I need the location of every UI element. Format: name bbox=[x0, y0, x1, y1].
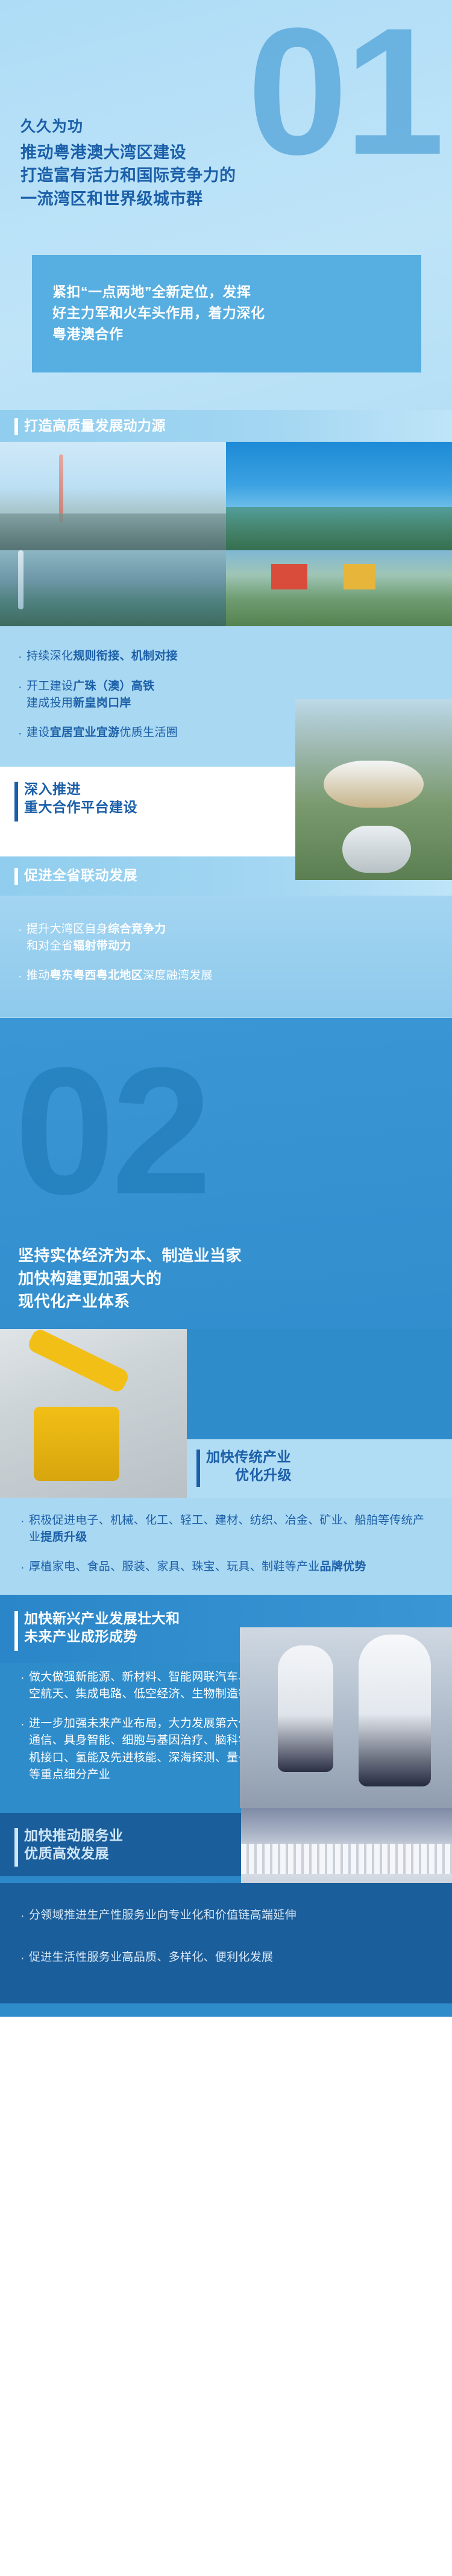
section-02-hero: 坚持实体经济为本、制造业当家 加快构建更加强大的 现代化产业体系 bbox=[0, 1018, 452, 1329]
bullet-text-plain-2: 和对全省 bbox=[27, 940, 73, 952]
heading-tick-icon bbox=[14, 782, 18, 821]
bullet-dot-icon: · bbox=[20, 1559, 29, 1577]
bullet-text-plain: 持续深化 bbox=[27, 650, 73, 662]
bullet-text: 分领域推进生产性服务业向专业化和价值链高端延伸 bbox=[29, 1907, 297, 1925]
heading-tick-icon bbox=[14, 1828, 18, 1867]
bullet-text: 厚植家电、食品、服装、家具、珠宝、玩具、制鞋等产业品牌优势 bbox=[29, 1559, 366, 1577]
heading-tick-icon bbox=[14, 868, 18, 885]
heading-build-growth-engine: 打造高质量发展动力源 bbox=[0, 410, 452, 442]
heading-text: 加快新兴产业发展壮大和 未来产业成形成势 bbox=[24, 1609, 180, 1646]
bullet-dot-icon: · bbox=[20, 1949, 29, 1967]
quote-line: 粤港澳合作 bbox=[52, 324, 401, 345]
bullet-text-emphasis: 品牌优势 bbox=[320, 1560, 366, 1573]
bullet-list-services: · 分领域推进生产性服务业向专业化和价值链高端延伸 · 促进生活性服务业高品质、… bbox=[0, 1883, 452, 2003]
bullet-text-plain: 推动 bbox=[27, 969, 50, 982]
section-01-kicker: 久久为功 bbox=[20, 115, 452, 136]
photo-row-cities bbox=[0, 442, 452, 550]
bullet-text-emphasis: 广珠（澳）高铁 bbox=[73, 680, 154, 693]
heading-services-quality-development: 加快推动服务业 优质高效发展 bbox=[0, 1813, 241, 1876]
section-01-quote-box: 紧扣“一点两地”全新定位，发挥 好主力军和火车头作用，着力深化 粤港澳合作 bbox=[32, 255, 421, 372]
quote-line: 紧扣“一点两地”全新定位，发挥 bbox=[52, 281, 401, 303]
industrial-robot-arms-photo bbox=[0, 1329, 187, 1498]
bullet-text-emphasis-2: 辐射带动力 bbox=[73, 940, 131, 952]
heading-text: 加快推动服务业 优质高效发展 bbox=[24, 1826, 124, 1863]
bullet-dot-icon: · bbox=[20, 1715, 29, 1784]
bullet-text-emphasis: 规则衔接、机制对接 bbox=[73, 650, 178, 662]
bullet-dot-icon: · bbox=[20, 1669, 29, 1703]
list-item: · 促进生活性服务业高品质、多样化、便利化发展 bbox=[20, 1949, 433, 1967]
shenzhen-city-blue-photo bbox=[226, 442, 452, 550]
bullet-text: 开工建设广珠（澳）高铁 建成投用新皇岗口岸 bbox=[27, 678, 154, 712]
footer-bar bbox=[0, 2003, 452, 2017]
bullet-text-plain-2: 建成投用 bbox=[27, 697, 73, 709]
bullet-text-emphasis: 提质升级 bbox=[40, 1531, 87, 1544]
bullet-text-emphasis: 宜居宜业宜游 bbox=[50, 726, 120, 739]
heading-traditional-industry-upgrade: 加快传统产业 优化升级 bbox=[187, 1439, 452, 1498]
bullet-text-plain: 建设 bbox=[27, 726, 50, 739]
bullet-text: 提升大湾区自身综合竞争力 和对全省辐射带动力 bbox=[27, 921, 166, 955]
bullet-dot-icon: · bbox=[18, 967, 27, 985]
heading-text: 打造高质量发展动力源 bbox=[24, 416, 166, 435]
bullet-dot-icon: · bbox=[18, 648, 27, 666]
list-item: · 提升大湾区自身综合竞争力 和对全省辐射带动力 bbox=[18, 921, 434, 955]
heading-tick-icon bbox=[14, 1611, 18, 1651]
heading-line: 加快推动服务业 bbox=[24, 1827, 124, 1843]
list-item: · 分领域推进生产性服务业向专业化和价值链高端延伸 bbox=[20, 1907, 433, 1925]
block-services: 加快推动服务业 优质高效发展 bbox=[0, 1808, 452, 1883]
quote-line: 好主力军和火车头作用，着力深化 bbox=[52, 303, 401, 324]
heading-text: 深入推进 重大合作平台建设 bbox=[24, 780, 137, 817]
bullet-text: 积极促进电子、机械、化工、轻工、建材、纺织、冶金、矿业、船舶等传统产业提质升级 bbox=[29, 1512, 434, 1547]
bullet-text-emphasis: 综合竞争力 bbox=[108, 923, 166, 935]
pearl-river-aerial-photo bbox=[0, 550, 226, 626]
section-01: 01 久久为功 推动粤港澳大湾区建设 打造富有活力和国际竞争力的 一流湾区和世界… bbox=[0, 0, 452, 1018]
title-line: 现代化产业体系 bbox=[18, 1290, 452, 1313]
heading-line: 深入推进 bbox=[24, 781, 81, 797]
bullet-dot-icon: · bbox=[18, 678, 27, 712]
guangzhou-tower-skyline-photo bbox=[0, 442, 226, 550]
humanoid-robots-photo bbox=[240, 1627, 452, 1808]
bullet-text: 建设宜居宜业宜游优质生活圈 bbox=[27, 724, 178, 743]
list-item: · 厚植家电、食品、服装、家具、珠宝、玩具、制鞋等产业品牌优势 bbox=[20, 1559, 434, 1577]
bullet-text-plain: 提升大湾区自身 bbox=[27, 923, 108, 935]
bullet-dot-icon: · bbox=[18, 724, 27, 743]
section-02-title: 坚持实体经济为本、制造业当家 加快构建更加强大的 现代化产业体系 bbox=[18, 1245, 452, 1313]
heading-line: 重大合作平台建设 bbox=[24, 799, 137, 815]
title-line: 打造富有活力和国际竞争力的 bbox=[20, 164, 452, 187]
bullet-dot-icon: · bbox=[20, 1907, 29, 1925]
bullet-text-post: 深度融湾发展 bbox=[143, 969, 213, 982]
list-item: · 推动粤东粤西粤北地区深度融湾发展 bbox=[18, 967, 434, 985]
bullet-dot-icon: · bbox=[18, 921, 27, 955]
bullet-text: 持续深化规则衔接、机制对接 bbox=[27, 648, 178, 666]
title-line: 一流湾区和世界级城市群 bbox=[20, 187, 452, 210]
bullet-text: 促进生活性服务业高品质、多样化、便利化发展 bbox=[29, 1949, 273, 1967]
bullet-text-emphasis-2: 新皇岗口岸 bbox=[73, 697, 131, 709]
bullet-text-post: 优质生活圈 bbox=[119, 726, 178, 739]
bullet-text: 推动粤东粤西粤北地区深度融湾发展 bbox=[27, 967, 213, 985]
section-01-title: 推动粤港澳大湾区建设 打造富有活力和国际竞争力的 一流湾区和世界级城市群 bbox=[20, 141, 452, 210]
heading-tick-icon bbox=[14, 418, 18, 435]
list-item: · 积极促进电子、机械、化工、轻工、建材、纺织、冶金、矿业、船舶等传统产业提质升… bbox=[20, 1512, 434, 1547]
list-item: · 持续深化规则衔接、机制对接 bbox=[18, 648, 434, 666]
infographic-page: 01 久久为功 推动粤港澳大湾区建设 打造富有活力和国际竞争力的 一流湾区和世界… bbox=[0, 0, 452, 2576]
heading-line: 优化升级 bbox=[206, 1466, 292, 1484]
heading-line: 未来产业成形成势 bbox=[24, 1629, 137, 1644]
photo-row-river-plaza bbox=[0, 550, 452, 626]
heading-line: 加快传统产业 bbox=[206, 1449, 291, 1465]
bullet-list-province-wide: · 提升大湾区自身综合竞争力 和对全省辐射带动力 · 推动粤东粤西粤北地区深度融… bbox=[0, 896, 452, 1017]
heading-line: 加快新兴产业发展壮大和 bbox=[24, 1610, 180, 1626]
title-line: 坚持实体经济为本、制造业当家 bbox=[18, 1245, 452, 1268]
hengqin-stadium-aerial-photo bbox=[295, 699, 452, 880]
heading-text: 加快传统产业 优化升级 bbox=[206, 1448, 292, 1484]
bullet-dot-icon: · bbox=[20, 1512, 29, 1547]
title-line: 推动粤港澳大湾区建设 bbox=[20, 141, 452, 164]
heading-line: 优质高效发展 bbox=[24, 1846, 109, 1861]
bullet-text-emphasis: 粤东粤西粤北地区 bbox=[50, 969, 143, 982]
section-02: 02 坚持实体经济为本、制造业当家 加快构建更加强大的 现代化产业体系 加快传统… bbox=[0, 1018, 452, 2017]
title-line: 加快构建更加强大的 bbox=[18, 1268, 452, 1290]
bullet-list-traditional-industries: · 积极促进电子、机械、化工、轻工、建材、纺织、冶金、矿业、船舶等传统产业提质升… bbox=[0, 1498, 452, 1595]
heading-tick-icon bbox=[196, 1450, 200, 1487]
bullet-text-plain: 开工建设 bbox=[27, 680, 73, 693]
bullet-text-plain: 积极促进电子、机械、化工、轻工、建材、纺织、冶金、矿业、船舶等传统产业 bbox=[29, 1514, 424, 1544]
block-traditional-industries: 加快传统产业 优化升级 bbox=[0, 1329, 452, 1498]
section-01-hero: 久久为功 推动粤港澳大湾区建设 打造富有活力和国际竞争力的 一流湾区和世界级城市… bbox=[0, 0, 452, 210]
civic-plaza-aerial-photo bbox=[226, 550, 452, 626]
bullet-text-plain: 厚植家电、食品、服装、家具、珠宝、玩具、制鞋等产业 bbox=[29, 1560, 320, 1573]
heading-text: 促进全省联动发展 bbox=[24, 866, 137, 884]
pharmaceutical-production-line-photo bbox=[241, 1808, 452, 1883]
